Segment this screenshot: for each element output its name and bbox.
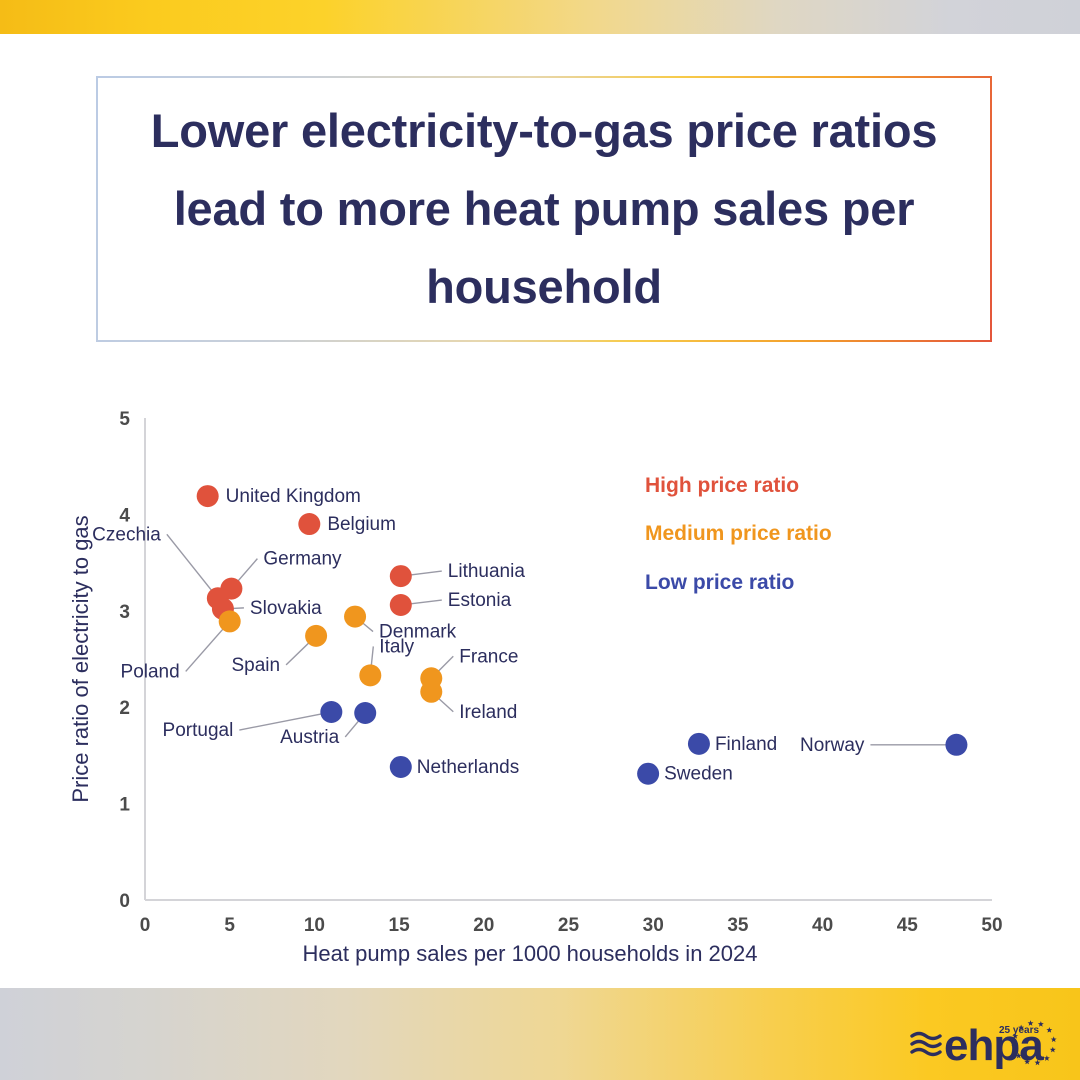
x-tick-label: 5 — [224, 915, 235, 936]
data-point-label: Norway — [800, 735, 865, 756]
data-point-label: Slovakia — [250, 598, 322, 619]
eu-star — [1050, 1047, 1056, 1053]
data-point-label: Belgium — [327, 514, 396, 535]
true — [305, 625, 327, 647]
scatter-chart: 012345 05101520253035404550 United Kingd… — [0, 360, 1080, 980]
x-tick-label: 15 — [389, 915, 411, 936]
x-tick-label: 20 — [473, 915, 494, 936]
data-point-label: Netherlands — [417, 757, 519, 778]
y-tick-label: 0 — [119, 891, 130, 912]
y-tick-label: 1 — [119, 795, 130, 816]
y-tick-label: 4 — [119, 505, 130, 526]
eu-star — [1046, 1027, 1052, 1033]
x-tick-label: 40 — [812, 915, 833, 936]
data-point-label: Finland — [715, 734, 777, 755]
leader-line — [411, 600, 442, 604]
true — [390, 594, 412, 616]
leader-line — [286, 643, 309, 665]
leader-line — [363, 623, 373, 632]
data-point-label: Portugal — [163, 720, 234, 741]
eu-star — [1044, 1055, 1050, 1061]
true — [354, 702, 376, 724]
page-title: Lower electricity-to-gas price ratios le… — [98, 92, 990, 326]
leader-line — [233, 608, 244, 609]
x-tick-label: 50 — [981, 915, 1002, 936]
true — [359, 664, 381, 686]
true — [298, 513, 320, 535]
x-tick-label: 25 — [558, 915, 580, 936]
data-point-label: Estonia — [448, 590, 512, 611]
legend-item-low[interactable]: Low price ratio — [645, 571, 794, 595]
data-point-label: Germany — [263, 549, 342, 570]
x-axis-ticks: 05101520253035404550 — [140, 915, 1003, 936]
data-point-label: Ireland — [459, 702, 517, 723]
x-tick-label: 10 — [304, 915, 325, 936]
leader-line — [186, 629, 223, 671]
data-point-label: United Kingdom — [226, 486, 361, 507]
x-axis-title: Heat pump sales per 1000 households in 2… — [303, 941, 758, 966]
true — [320, 701, 342, 723]
data-point-label: Spain — [231, 655, 280, 676]
x-tick-label: 0 — [140, 915, 151, 936]
data-point-label: Austria — [280, 727, 340, 748]
true — [219, 610, 241, 632]
true — [420, 681, 442, 703]
leader-line — [411, 571, 442, 575]
true — [390, 756, 412, 778]
true — [197, 485, 219, 507]
data-point-label: Czechia — [92, 524, 161, 545]
leader-line — [345, 721, 359, 737]
y-axis-title: Price ratio of electricity to gas — [68, 515, 93, 802]
leader-line — [439, 699, 454, 712]
data-point-label: Poland — [121, 661, 180, 682]
true — [637, 763, 659, 785]
leader-line — [371, 646, 373, 665]
x-tick-label: 30 — [643, 915, 664, 936]
data-point-label: Italy — [379, 636, 414, 657]
leader-line — [167, 534, 212, 590]
leader-line — [238, 559, 257, 581]
ehpa-logo: ehpa 25 years — [910, 1014, 1060, 1072]
x-tick-label: 45 — [897, 915, 919, 936]
legend-item-medium[interactable]: Medium price ratio — [645, 522, 832, 546]
scatter-plot-svg: 012345 05101520253035404550 United Kingd… — [0, 360, 1080, 980]
true — [390, 565, 412, 587]
y-tick-label: 2 — [119, 698, 130, 719]
top-banner-gradient — [0, 0, 1080, 34]
true — [688, 733, 710, 755]
data-point-label: Sweden — [664, 764, 733, 785]
data-point-label: Lithuania — [448, 561, 526, 582]
true — [945, 734, 967, 756]
true — [220, 578, 242, 600]
wave-icon — [912, 1034, 940, 1055]
data-point-label: France — [459, 646, 518, 667]
y-tick-label: 5 — [119, 409, 130, 430]
legend-item-high[interactable]: High price ratio — [645, 474, 799, 498]
x-tick-label: 35 — [727, 915, 749, 936]
y-tick-label: 3 — [119, 602, 130, 623]
slide-root: Lower electricity-to-gas price ratios le… — [0, 0, 1080, 1080]
eu-star — [1051, 1036, 1057, 1042]
logo-anniversary-text: 25 years — [999, 1025, 1039, 1036]
true — [344, 606, 366, 628]
title-card: Lower electricity-to-gas price ratios le… — [96, 76, 992, 342]
leader-line — [438, 656, 453, 671]
